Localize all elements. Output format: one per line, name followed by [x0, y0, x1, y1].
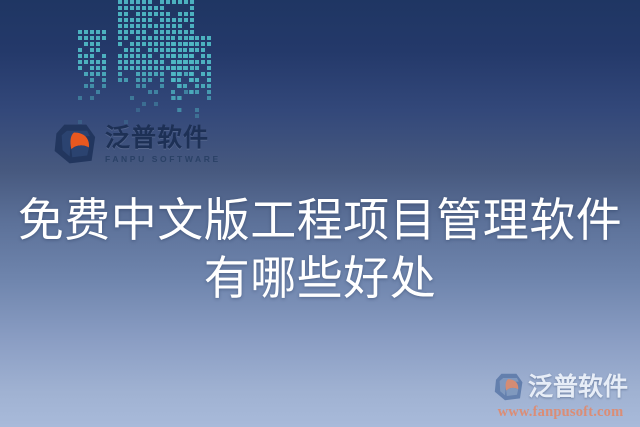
skyline-pixel	[160, 78, 164, 82]
skyline-pixel	[118, 78, 122, 82]
skyline-pixel	[96, 36, 100, 40]
skyline-pixel	[177, 84, 181, 88]
skyline-pixel	[201, 72, 205, 76]
skyline-pixel	[84, 84, 88, 88]
skyline-pixel	[96, 66, 100, 70]
skyline-pixel	[130, 48, 134, 52]
skyline-pixel	[160, 0, 164, 4]
skyline-pixel	[118, 60, 122, 64]
skyline-pixel	[130, 24, 134, 28]
skyline-pixel	[102, 84, 106, 88]
skyline-pixel	[154, 66, 158, 70]
skyline-pixel	[195, 60, 199, 64]
skyline-pixel	[207, 72, 211, 76]
skyline-pixel	[148, 24, 152, 28]
skyline-pixel	[171, 96, 175, 100]
skyline-pixel	[136, 84, 140, 88]
skyline-pixel	[166, 18, 170, 22]
skyline-pixel	[90, 36, 94, 40]
skyline-pixel	[177, 108, 181, 112]
skyline-pixel	[148, 72, 152, 76]
skyline-pixel	[207, 36, 211, 40]
skyline-pixel	[78, 36, 82, 40]
skyline-pixel	[118, 18, 122, 22]
skyline-pixel	[124, 12, 128, 16]
skyline-pixel	[178, 30, 182, 34]
skyline-pixel	[189, 60, 193, 64]
skyline-pixel	[136, 12, 140, 16]
skyline-pixel	[84, 72, 88, 76]
skyline-pixel	[102, 54, 106, 58]
skyline-pixel	[183, 60, 187, 64]
skyline-pixel	[195, 66, 199, 70]
skyline-pixel	[195, 90, 199, 94]
banner-image: 泛普软件 FANPU SOFTWARE 免费中文版工程项目管理软件 有哪些好处 …	[0, 0, 640, 427]
skyline-pixel	[78, 54, 82, 58]
skyline-pixel	[160, 36, 164, 40]
skyline-pixel	[201, 54, 205, 58]
skyline-pixel	[195, 78, 199, 82]
skyline-pixel	[190, 0, 194, 4]
skyline-pixel	[177, 96, 181, 100]
skyline-pixel	[171, 36, 175, 40]
skyline-pixel	[166, 42, 170, 46]
skyline-pixel	[78, 30, 82, 34]
page-title-line-1: 免费中文版工程项目管理软件	[0, 192, 640, 250]
skyline-pixel	[142, 72, 146, 76]
skyline-pixel	[201, 48, 205, 52]
skyline-pixel	[184, 18, 188, 22]
skyline-pixel	[177, 78, 181, 82]
skyline-pixel	[160, 60, 164, 64]
watermark: 泛普软件 www.fanpusoft.com	[493, 372, 628, 420]
skyline-tower	[171, 36, 213, 126]
skyline-pixel	[148, 12, 152, 16]
skyline-pixel	[96, 72, 100, 76]
brand-logo-text: 泛普软件 FANPU SOFTWARE	[105, 125, 221, 164]
skyline-pixel	[142, 24, 146, 28]
skyline-pixel	[90, 96, 94, 100]
skyline-pixel	[207, 54, 211, 58]
skyline-pixel	[84, 42, 88, 46]
skyline-pixel	[130, 30, 134, 34]
skyline-pixel	[136, 36, 140, 40]
brand-name-en: FANPU SOFTWARE	[105, 155, 221, 164]
skyline-pixel	[160, 84, 164, 88]
skyline-pixel	[136, 78, 140, 82]
skyline-pixel	[118, 54, 122, 58]
skyline-pixel	[171, 48, 175, 52]
skyline-pixel	[190, 24, 194, 28]
skyline-pixel	[124, 36, 128, 40]
skyline-pixel	[102, 30, 106, 34]
skyline-pixel	[160, 24, 164, 28]
skyline-pixel	[171, 60, 175, 64]
skyline-pixel	[102, 78, 106, 82]
skyline-pixel	[195, 42, 199, 46]
skyline-pixel	[124, 48, 128, 52]
skyline-pixel	[207, 90, 211, 94]
skyline-pixel	[148, 54, 152, 58]
skyline-pixel	[142, 54, 146, 58]
skyline-pixel	[136, 60, 140, 64]
skyline-pixel	[184, 30, 188, 34]
skyline-pixel	[201, 84, 205, 88]
skyline-pixel	[124, 0, 128, 4]
skyline-pixel	[118, 24, 122, 28]
skyline-pixel	[124, 66, 128, 70]
skyline-pixel	[160, 72, 164, 76]
skyline-pixel	[148, 60, 152, 64]
skyline-pixel	[118, 72, 122, 76]
skyline-pixel	[178, 18, 182, 22]
skyline-pixel	[177, 66, 181, 70]
skyline-pixel	[118, 12, 122, 16]
fanpu-hexagon-logo-icon	[493, 372, 523, 402]
skyline-pixel	[207, 60, 211, 64]
skyline-pixel	[207, 96, 211, 100]
skyline-pixel	[172, 30, 176, 34]
skyline-pixel	[178, 0, 182, 4]
skyline-pixel	[172, 18, 176, 22]
skyline-pixel	[136, 42, 140, 46]
skyline-pixel	[118, 36, 122, 40]
brand-logo: 泛普软件 FANPU SOFTWARE	[52, 122, 221, 166]
skyline-pixel	[142, 60, 146, 64]
watermark-brand-name: 泛普软件	[528, 374, 628, 399]
skyline-pixel	[166, 0, 170, 4]
skyline-pixel	[166, 54, 170, 58]
skyline-pixel	[184, 12, 188, 16]
skyline-pixel	[166, 66, 170, 70]
skyline-pixel	[171, 72, 175, 76]
skyline-pixel	[96, 60, 100, 64]
skyline-pixel	[96, 48, 100, 52]
skyline-pixel	[148, 90, 152, 94]
skyline-pixel	[142, 102, 146, 106]
skyline-pixel	[190, 12, 194, 16]
skyline-pixel	[96, 90, 100, 94]
skyline-pixel	[118, 6, 122, 10]
skyline-pixel	[102, 36, 106, 40]
skyline-pixel	[118, 30, 122, 34]
skyline-pixel	[148, 42, 152, 46]
skyline-pixel	[177, 72, 181, 76]
skyline-pixel	[160, 54, 164, 58]
skyline-pixel	[130, 66, 134, 70]
fanpu-hexagon-logo-icon	[52, 122, 96, 166]
skyline-pixel	[142, 66, 146, 70]
skyline-pixel	[195, 36, 199, 40]
watermark-brand-row: 泛普软件	[493, 372, 628, 402]
skyline-pixel	[136, 48, 140, 52]
skyline-pixel	[160, 12, 164, 16]
skyline-pixel	[190, 30, 194, 34]
skyline-pixel	[183, 48, 187, 52]
skyline-pixel	[184, 0, 188, 4]
skyline-pixel	[148, 48, 152, 52]
skyline-pixel	[90, 60, 94, 64]
skyline-pixel	[142, 0, 146, 4]
skyline-pixel	[171, 42, 175, 46]
skyline-pixel	[142, 78, 146, 82]
skyline-pixel	[195, 84, 199, 88]
skyline-pixel	[166, 30, 170, 34]
skyline-pixel	[84, 36, 88, 40]
skyline-pixel	[78, 48, 82, 52]
skyline-pixel	[78, 96, 82, 100]
skyline-pixel	[160, 42, 164, 46]
skyline-pixel	[207, 42, 211, 46]
skyline-pixel	[148, 36, 152, 40]
skyline-pixel	[78, 66, 82, 70]
skyline-pixel	[160, 30, 164, 34]
skyline-pixel	[201, 36, 205, 40]
skyline-pixel	[78, 60, 82, 64]
skyline-pixel	[118, 42, 122, 46]
skyline-pixel	[136, 30, 140, 34]
skyline-pixel	[124, 6, 128, 10]
skyline-pixel	[142, 18, 146, 22]
skyline-pixel	[154, 60, 158, 64]
skyline-pixel	[90, 48, 94, 52]
skyline-pixel	[183, 54, 187, 58]
skyline-pixel	[189, 54, 193, 58]
skyline-pixel	[190, 6, 194, 10]
skyline-pixel	[201, 60, 205, 64]
skyline-pixel	[124, 60, 128, 64]
skyline-pixel	[84, 60, 88, 64]
skyline-pixel	[118, 0, 122, 4]
skyline-pixel	[90, 54, 94, 58]
skyline-pixel	[136, 54, 140, 58]
skyline-pixel	[102, 72, 106, 76]
skyline-pixel	[177, 60, 181, 64]
skyline-pixel	[189, 36, 193, 40]
skyline-pixel	[171, 66, 175, 70]
skyline-pixel	[148, 6, 152, 10]
skyline-pixel	[160, 18, 164, 22]
skyline-pixel	[154, 48, 158, 52]
skyline-pixel	[189, 72, 193, 76]
skyline-pixel	[136, 6, 140, 10]
skyline-pixel	[195, 48, 199, 52]
skyline-pixel	[130, 18, 134, 22]
skyline-pixel	[189, 78, 193, 82]
skyline-pixel	[90, 84, 94, 88]
skyline-pixel	[189, 42, 193, 46]
skyline-pixel	[154, 102, 158, 106]
skyline-pixel	[207, 78, 211, 82]
skyline-pixel	[195, 108, 199, 112]
skyline-pixel	[148, 0, 152, 4]
skyline-pixel	[172, 0, 176, 4]
page-title: 免费中文版工程项目管理软件 有哪些好处	[0, 192, 640, 308]
skyline-pixel	[166, 24, 170, 28]
skyline-pixel	[190, 18, 194, 22]
skyline-pixel	[96, 30, 100, 34]
skyline-pixel	[142, 36, 146, 40]
skyline-pixel	[124, 24, 128, 28]
skyline-pixel	[136, 108, 140, 112]
skyline-pixel	[90, 66, 94, 70]
skyline-tower	[78, 30, 108, 126]
skyline-pixel	[130, 6, 134, 10]
skyline-pixel	[124, 30, 128, 34]
page-title-line-2: 有哪些好处	[0, 250, 640, 308]
pixel-city-skyline-icon	[78, 34, 196, 126]
skyline-pixel	[142, 84, 146, 88]
skyline-pixel	[178, 12, 182, 16]
skyline-pixel	[142, 30, 146, 34]
skyline-pixel	[166, 48, 170, 52]
skyline-pixel	[142, 42, 146, 46]
skyline-pixel	[171, 90, 175, 94]
skyline-pixel	[90, 42, 94, 46]
skyline-pixel	[160, 48, 164, 52]
skyline-pixel	[130, 0, 134, 4]
skyline-pixel	[207, 66, 211, 70]
skyline-pixel	[148, 18, 152, 22]
watermark-url: www.fanpusoft.com	[498, 405, 624, 420]
skyline-pixel	[102, 66, 106, 70]
skyline-pixel	[154, 6, 158, 10]
skyline-pixel	[102, 60, 106, 64]
brand-name-cn: 泛普软件	[105, 125, 221, 150]
skyline-pixel	[154, 30, 158, 34]
skyline-pixel	[171, 78, 175, 82]
skyline-pixel	[90, 72, 94, 76]
skyline-pixel	[90, 30, 94, 34]
skyline-pixel	[130, 54, 134, 58]
skyline-pixel	[136, 66, 140, 70]
skyline-pixel	[154, 36, 158, 40]
skyline-pixel	[124, 54, 128, 58]
skyline-pixel	[195, 114, 199, 118]
skyline-pixel	[136, 18, 140, 22]
skyline-pixel	[124, 18, 128, 22]
skyline-pixel	[124, 78, 128, 82]
skyline-pixel	[84, 30, 88, 34]
skyline-pixel	[189, 48, 193, 52]
skyline-pixel	[160, 6, 164, 10]
skyline-pixel	[118, 66, 122, 70]
skyline-pixel	[136, 24, 140, 28]
skyline-pixel	[178, 24, 182, 28]
skyline-pixel	[171, 54, 175, 58]
skyline-pixel	[160, 66, 164, 70]
skyline-pixel	[142, 6, 146, 10]
skyline-pixel	[183, 66, 187, 70]
skyline-pixel	[166, 12, 170, 16]
skyline-pixel	[130, 42, 134, 46]
skyline-pixel	[166, 36, 170, 40]
skyline-pixel	[96, 42, 100, 46]
skyline-pixel	[136, 72, 140, 76]
skyline-pixel	[207, 84, 211, 88]
skyline-pixel	[201, 42, 205, 46]
skyline-pixel	[90, 78, 94, 82]
skyline-pixel	[130, 60, 134, 64]
skyline-pixel	[148, 78, 152, 82]
skyline-pixel	[189, 90, 193, 94]
skyline-pixel	[130, 96, 134, 100]
skyline-pixel	[84, 54, 88, 58]
skyline-pixel	[183, 84, 187, 88]
skyline-pixel	[142, 12, 146, 16]
skyline-pixel	[183, 42, 187, 46]
skyline-pixel	[154, 24, 158, 28]
skyline-pixel	[154, 72, 158, 76]
skyline-pixel	[154, 12, 158, 16]
skyline-pixel	[154, 90, 158, 94]
skyline-pixel	[136, 0, 140, 4]
skyline-pixel	[154, 42, 158, 46]
skyline-pixel	[172, 24, 176, 28]
skyline-pixel	[148, 66, 152, 70]
